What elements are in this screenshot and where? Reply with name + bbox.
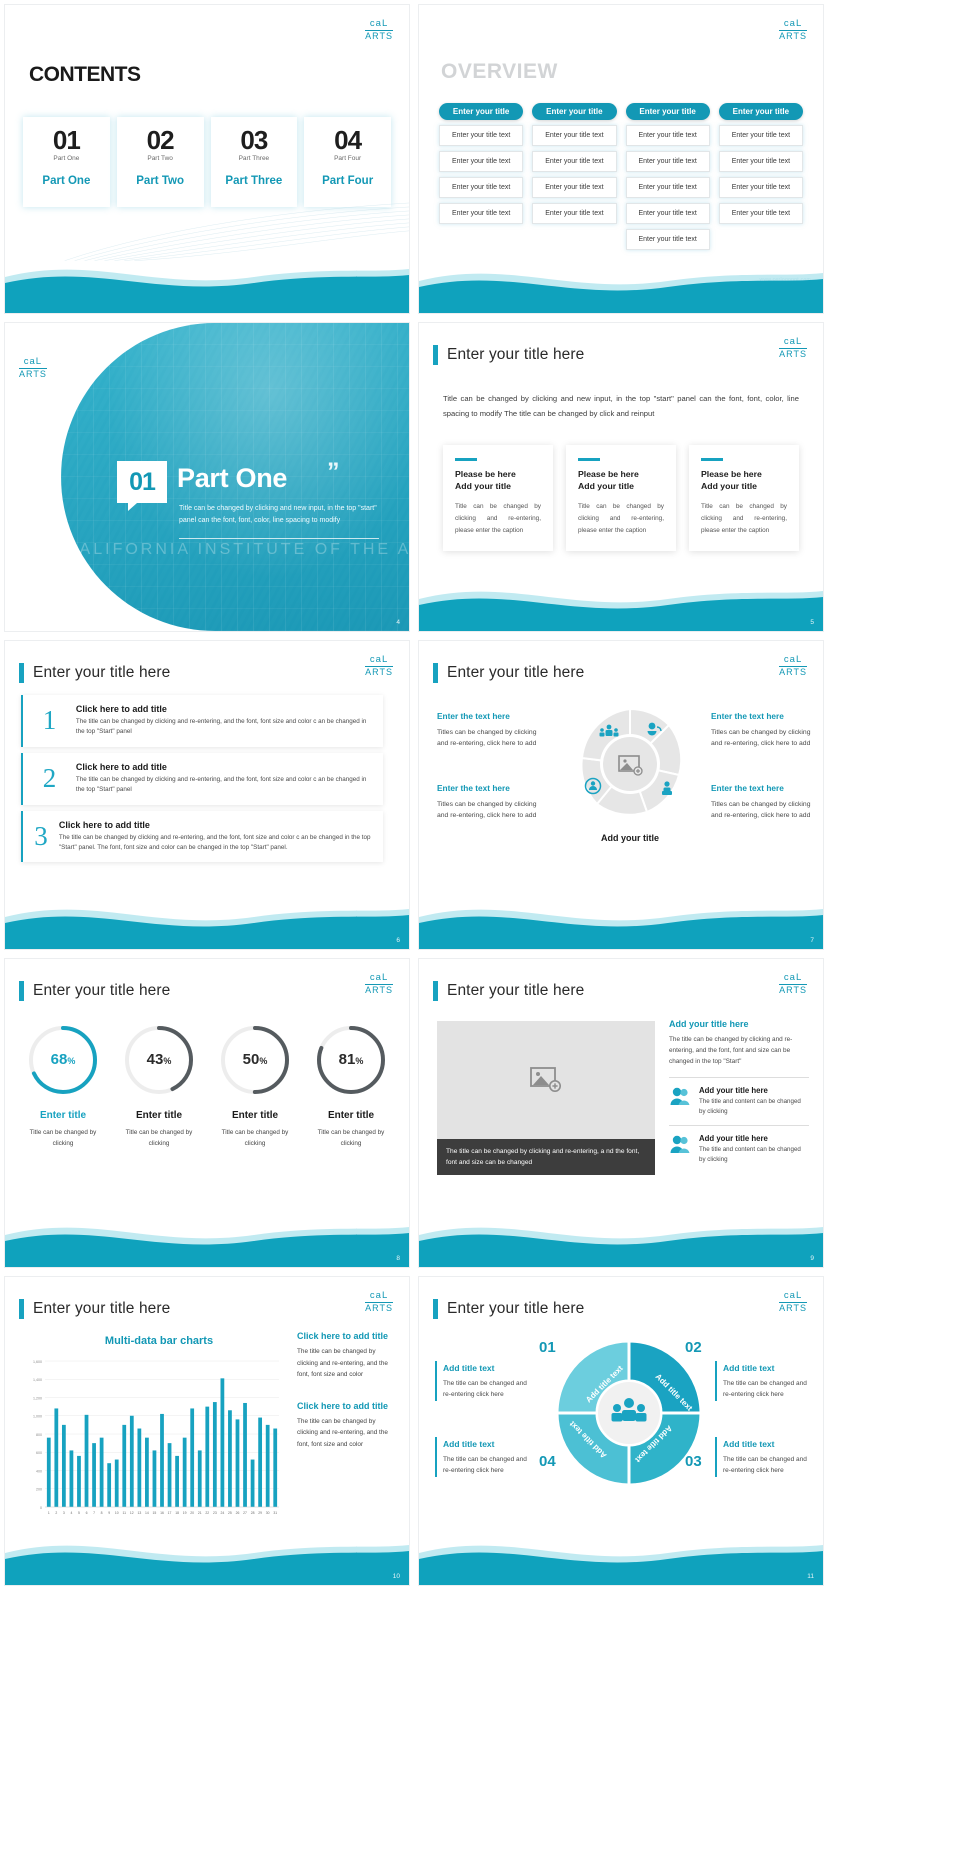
- svg-text:19: 19: [183, 1511, 187, 1515]
- wheel-label-bottom-left: Enter the text here Titles can be change…: [437, 781, 539, 822]
- logo-line-2: ARTS: [365, 31, 393, 41]
- item-heading: Click here to add title: [76, 704, 373, 714]
- card-label: Part One: [42, 175, 90, 187]
- label-body: Titles can be changed by clicking and re…: [711, 729, 811, 748]
- card-number: 01: [53, 127, 80, 153]
- slide-header: Enter your title here: [19, 663, 170, 683]
- item-number: 3: [23, 823, 59, 850]
- ring-label: Enter title: [136, 1110, 182, 1121]
- label-heading: Enter the text here: [711, 709, 813, 724]
- calarts-logo: caL ARTS: [365, 973, 393, 995]
- svg-text:9: 9: [108, 1511, 110, 1515]
- card-title-line-1: Please be here: [455, 469, 541, 481]
- overview-box[interactable]: Enter your title text: [439, 151, 523, 172]
- svg-text:4: 4: [70, 1511, 72, 1515]
- item-body: The title and content can be changed by …: [699, 1145, 809, 1165]
- svg-text:7: 7: [93, 1511, 95, 1515]
- percent-ring[interactable]: 68% Enter title Title can be changed by …: [15, 1021, 111, 1149]
- footer-url: www.cerlogoppt.com: [759, 277, 811, 283]
- label-body: Titles can be changed by clicking and re…: [711, 801, 811, 820]
- card-subtitle: Part Two: [147, 155, 173, 162]
- slide-segment-wheel[interactable]: caL ARTS Enter your title here Enter the…: [418, 640, 824, 950]
- title-accent-bar: [433, 345, 438, 365]
- item-body: The title can be changed by clicking and…: [76, 717, 373, 738]
- logo-line-2: ARTS: [779, 985, 807, 995]
- ring-description: Title can be changed by clicking: [308, 1128, 394, 1149]
- slide-percent-rings[interactable]: caL ARTS Enter your title here 68% Enter…: [4, 958, 410, 1268]
- overview-columns: Enter your title Enter your title text E…: [439, 103, 803, 250]
- card-accent-dash: [578, 458, 600, 461]
- page-title: Enter your title here: [447, 664, 584, 682]
- card-number: 04: [334, 127, 361, 153]
- calarts-logo: caL ARTS: [365, 655, 393, 677]
- image-placeholder[interactable]: [437, 1021, 655, 1139]
- page-number: 4: [396, 619, 400, 626]
- overview-box[interactable]: Enter your title text: [626, 125, 710, 146]
- item-heading: Click here to add title: [59, 820, 373, 830]
- overview-box[interactable]: Enter your title text: [532, 125, 616, 146]
- svg-text:11: 11: [122, 1511, 126, 1515]
- overview-box[interactable]: Enter your title text: [719, 177, 803, 198]
- right-column: Add your title here The title can be cha…: [669, 1019, 809, 1174]
- ring-unit: %: [163, 1056, 171, 1066]
- card-title-line-1: Please be here: [701, 469, 787, 481]
- wave-decoration: [419, 1523, 823, 1585]
- contents-card-list: 01 Part One Part One 02 Part Two Part Tw…: [23, 117, 391, 207]
- calarts-logo: caL ARTS: [779, 1291, 807, 1313]
- contents-card[interactable]: 02 Part Two Part Two: [117, 117, 204, 207]
- page-title: Enter your title here: [447, 346, 584, 364]
- slide-cycle-diagram[interactable]: caL ARTS Enter your title here: [418, 1276, 824, 1586]
- column-pill-button[interactable]: Enter your title: [626, 103, 710, 120]
- image-placeholder-icon: [529, 1065, 563, 1095]
- ring-description: Title can be changed by clicking: [212, 1128, 298, 1149]
- svg-text:0: 0: [40, 1506, 42, 1510]
- ring-label: Enter title: [40, 1110, 86, 1121]
- card-body: Title can be changed by clicking and re-…: [455, 501, 541, 537]
- logo-line-2: ARTS: [365, 985, 393, 995]
- block-body: The title can be changed by clicking and…: [297, 1346, 397, 1381]
- logo-line-2: ARTS: [19, 369, 47, 379]
- cycle-label-bottom-right: Add title text The title can be changed …: [715, 1437, 811, 1477]
- calarts-logo: caL ARTS: [365, 19, 393, 41]
- section-title: Part One: [177, 463, 287, 494]
- section-description: Title can be changed by clicking and new…: [179, 503, 389, 526]
- page-title: Enter your title here: [33, 664, 170, 682]
- slide-overview[interactable]: caL ARTS OVERVIEW Enter your title Enter…: [418, 4, 824, 314]
- wave-decoration: [419, 887, 823, 949]
- slide-contents[interactable]: caL ARTS CONTENTS 01 Part One Part One 0…: [4, 4, 410, 314]
- ring-number: 68: [51, 1051, 68, 1068]
- divider: [669, 1125, 809, 1126]
- title-accent-bar: [433, 1299, 438, 1319]
- contents-card[interactable]: 01 Part One Part One: [23, 117, 110, 207]
- svg-text:20: 20: [190, 1511, 194, 1515]
- contents-card[interactable]: 03 Part Three Part Three: [211, 117, 298, 207]
- calarts-logo: caL ARTS: [779, 19, 807, 41]
- footer-url: www.cd.logecult.com: [345, 277, 397, 283]
- wheel-label-bottom-right: Enter the text here Titles can be change…: [711, 781, 813, 822]
- logo-line-2: ARTS: [365, 667, 393, 677]
- card-label: Part Three: [225, 175, 282, 187]
- overview-box[interactable]: Enter your title text: [626, 151, 710, 172]
- slide-three-cards[interactable]: caL ARTS Enter your title here Title can…: [418, 322, 824, 632]
- svg-text:12: 12: [130, 1511, 134, 1515]
- label-heading: Add title text: [723, 1361, 811, 1375]
- page-title: Enter your title here: [447, 982, 584, 1000]
- title-accent-bar: [433, 663, 438, 683]
- overview-box[interactable]: Enter your title text: [719, 203, 803, 224]
- two-people-icon: [669, 1134, 691, 1154]
- cycle-number-03: 03: [685, 1453, 702, 1470]
- overview-column: Enter your title Enter your title text E…: [439, 103, 523, 250]
- svg-text:23: 23: [213, 1511, 217, 1515]
- block-heading: Click here to add title: [297, 1401, 397, 1411]
- cycle-label-bottom-left: Add title text The title can be changed …: [435, 1437, 531, 1477]
- item-number: 2: [23, 765, 76, 792]
- column-pill-button[interactable]: Enter your title: [439, 103, 523, 120]
- overview-box[interactable]: Enter your title text: [532, 177, 616, 198]
- item-body: The title and content can be changed by …: [699, 1097, 809, 1117]
- label-body: Titles can be changed by clicking and re…: [437, 801, 537, 820]
- slide-header: Enter your title here: [433, 663, 584, 683]
- label-heading: Add title text: [443, 1361, 531, 1375]
- svg-text:5: 5: [78, 1511, 80, 1515]
- ring-unit: %: [259, 1056, 267, 1066]
- svg-text:400: 400: [36, 1469, 42, 1473]
- overview-box[interactable]: Enter your title text: [719, 125, 803, 146]
- ring-number: 81: [339, 1051, 356, 1068]
- ring-unit: %: [67, 1056, 75, 1066]
- label-body: The title can be changed and re-entering…: [443, 1456, 527, 1474]
- info-card[interactable]: Please be here Add your title Title can …: [566, 445, 676, 551]
- list-item[interactable]: 3 Click here to add title The title can …: [21, 811, 383, 863]
- svg-text:14: 14: [145, 1511, 149, 1515]
- divider-rule: [179, 538, 379, 539]
- slide-image-and-list[interactable]: caL ARTS Enter your title here The title…: [418, 958, 824, 1268]
- label-heading: Enter the text here: [711, 781, 813, 796]
- overview-box[interactable]: Enter your title text: [439, 203, 523, 224]
- cycle-number-04: 04: [539, 1453, 556, 1470]
- svg-text:200: 200: [36, 1488, 42, 1492]
- svg-text:16: 16: [160, 1511, 164, 1515]
- card-accent-dash: [701, 458, 723, 461]
- image-caption: The title can be changed by clicking and…: [437, 1139, 655, 1175]
- page-number: 9: [810, 1255, 814, 1262]
- label-body: The title can be changed and re-entering…: [443, 1380, 527, 1398]
- logo-line-1: caL: [365, 1291, 393, 1303]
- overview-box[interactable]: Enter your title text: [626, 203, 710, 224]
- ring-value: 50%: [243, 1051, 268, 1068]
- card-body: Title can be changed by clicking and re-…: [701, 501, 787, 537]
- logo-line-1: caL: [779, 655, 807, 667]
- ring-description: Title can be changed by clicking: [116, 1128, 202, 1149]
- svg-text:26: 26: [236, 1511, 240, 1515]
- svg-text:30: 30: [266, 1511, 270, 1515]
- title-accent-bar: [19, 663, 24, 683]
- logo-line-1: caL: [19, 357, 47, 369]
- percent-ring[interactable]: 43% Enter title Title can be changed by …: [111, 1021, 207, 1149]
- card-label: Part Two: [136, 175, 184, 187]
- card-accent-dash: [455, 458, 477, 461]
- lead-paragraph: Title can be changed by clicking and new…: [443, 391, 799, 421]
- calarts-logo: caL ARTS: [779, 655, 807, 677]
- ring-label: Enter title: [232, 1110, 278, 1121]
- card-title-line-2: Add your title: [455, 481, 541, 493]
- contents-card[interactable]: 04 Part Four Part Four: [304, 117, 391, 207]
- logo-line-2: ARTS: [365, 1303, 393, 1313]
- svg-text:800: 800: [36, 1433, 42, 1437]
- wave-decoration: [419, 1205, 823, 1267]
- svg-text:13: 13: [137, 1511, 141, 1515]
- card-number: 02: [147, 127, 174, 153]
- logo-line-1: caL: [779, 337, 807, 349]
- page-title: OVERVIEW: [441, 60, 558, 84]
- slide-header: Enter your title here: [19, 1299, 170, 1319]
- calarts-logo: caL ARTS: [779, 973, 807, 995]
- card-list: Please be here Add your title Title can …: [443, 445, 799, 551]
- overview-box[interactable]: Enter your title text: [439, 177, 523, 198]
- column-heading: Add your title here: [669, 1019, 809, 1029]
- slide-bar-chart[interactable]: caL ARTS Enter your title here Multi-dat…: [4, 1276, 410, 1586]
- svg-text:10: 10: [115, 1511, 119, 1515]
- wave-decoration: [5, 1205, 409, 1267]
- page-number: 7: [810, 937, 814, 944]
- svg-text:24: 24: [220, 1511, 224, 1515]
- svg-text:2: 2: [55, 1511, 57, 1515]
- section-number: 01: [129, 468, 155, 497]
- overview-column: Enter your title Enter your title text E…: [626, 103, 710, 250]
- column-pill-button[interactable]: Enter your title: [532, 103, 616, 120]
- overview-box[interactable]: Enter your title text: [626, 229, 710, 250]
- page-title: Enter your title here: [33, 1300, 170, 1318]
- ring-value: 43%: [147, 1051, 172, 1068]
- divider: [669, 1077, 809, 1078]
- card-title-line-2: Add your title: [701, 481, 787, 493]
- slide-header: Enter your title here: [19, 981, 170, 1001]
- section-number-badge: 01: [117, 461, 167, 503]
- calarts-logo: caL ARTS: [365, 1291, 393, 1313]
- logo-line-1: caL: [365, 973, 393, 985]
- svg-text:1,200: 1,200: [33, 1396, 42, 1400]
- ring-label: Enter title: [328, 1110, 374, 1121]
- percent-ring[interactable]: 50% Enter title Title can be changed by …: [207, 1021, 303, 1149]
- logo-line-2: ARTS: [779, 349, 807, 359]
- overview-box[interactable]: Enter your title text: [626, 177, 710, 198]
- svg-text:3: 3: [63, 1511, 65, 1515]
- logo-line-1: caL: [779, 973, 807, 985]
- label-heading: Enter the text here: [437, 709, 539, 724]
- info-card[interactable]: Please be here Add your title Title can …: [689, 445, 799, 551]
- cycle-number-01: 01: [539, 1339, 556, 1356]
- two-people-icon: [669, 1086, 691, 1106]
- logo-line-2: ARTS: [779, 1303, 807, 1313]
- svg-text:25: 25: [228, 1511, 232, 1515]
- svg-text:29: 29: [258, 1511, 262, 1515]
- svg-text:1: 1: [48, 1511, 50, 1515]
- item-heading: Click here to add title: [76, 762, 373, 772]
- page-number: 11: [807, 1573, 814, 1580]
- slide-header: Enter your title here: [433, 981, 584, 1001]
- card-number: 03: [240, 127, 267, 153]
- wheel-caption: Add your title: [569, 833, 691, 843]
- cycle-number-02: 02: [685, 1339, 702, 1356]
- svg-text:1,000: 1,000: [33, 1415, 42, 1419]
- svg-text:21: 21: [198, 1511, 202, 1515]
- overview-box[interactable]: Enter your title text: [532, 151, 616, 172]
- ring-number: 43: [147, 1051, 164, 1068]
- calarts-logo: caL ARTS: [19, 357, 47, 379]
- wheel-label-top-right: Enter the text here Titles can be change…: [711, 709, 813, 750]
- logo-line-2: ARTS: [779, 667, 807, 677]
- page-number: 8: [396, 1255, 400, 1262]
- list-item[interactable]: 1 Click here to add title The title can …: [21, 695, 383, 747]
- overview-box[interactable]: Enter your title text: [532, 203, 616, 224]
- right-column: Click here to add title The title can be…: [297, 1331, 397, 1450]
- label-body: The title can be changed and re-entering…: [723, 1380, 807, 1398]
- column-pill-button[interactable]: Enter your title: [719, 103, 803, 120]
- item-heading: Add your title here: [699, 1086, 809, 1095]
- label-body: The title can be changed and re-entering…: [723, 1456, 807, 1474]
- logo-line-1: caL: [365, 19, 393, 31]
- card-subtitle: Part Three: [239, 155, 270, 162]
- svg-text:31: 31: [273, 1511, 277, 1515]
- info-card[interactable]: Please be here Add your title Title can …: [443, 445, 553, 551]
- numbered-row-list: 1 Click here to add title The title can …: [21, 695, 383, 862]
- cycle-label-top-right: Add title text The title can be changed …: [715, 1361, 811, 1401]
- card-title-line-2: Add your title: [578, 481, 664, 493]
- chart-title: Multi-data bar charts: [39, 1335, 279, 1347]
- svg-text:27: 27: [243, 1511, 247, 1515]
- column-body: The title can be changed by clicking and…: [669, 1034, 809, 1068]
- block-heading: Click here to add title: [297, 1331, 397, 1341]
- page-number: 10: [393, 1573, 400, 1580]
- ghost-watermark-text: CALIFORNIA INSTITUTE OF THE ARTS: [65, 541, 410, 559]
- percent-ring[interactable]: 81% Enter title Title can be changed by …: [303, 1021, 399, 1149]
- overview-box[interactable]: Enter your title text: [719, 151, 803, 172]
- svg-text:22: 22: [205, 1511, 209, 1515]
- page-number: 6: [396, 937, 400, 944]
- page-number: 5: [810, 619, 814, 626]
- wave-decoration: [5, 1523, 409, 1585]
- item-body: The title can be changed by clicking and…: [59, 833, 373, 854]
- page-title: Enter your title here: [33, 982, 170, 1000]
- label-heading: Enter the text here: [437, 781, 539, 796]
- card-body: Title can be changed by clicking and re-…: [578, 501, 664, 537]
- logo-line-2: ARTS: [779, 31, 807, 41]
- item-heading: Add your title here: [699, 1134, 809, 1143]
- card-label: Part Four: [322, 175, 373, 187]
- overview-column: Enter your title Enter your title text E…: [532, 103, 616, 250]
- slide-part-one-cover[interactable]: caL ARTS CALIFORNIA INSTITUTE OF THE ART…: [4, 322, 410, 632]
- card-subtitle: Part One: [53, 155, 79, 162]
- svg-text:1,600: 1,600: [33, 1360, 42, 1364]
- list-item[interactable]: Add your title here The title and conten…: [669, 1086, 809, 1117]
- slide-deck-grid: caL ARTS CONTENTS 01 Part One Part One 0…: [0, 0, 960, 1586]
- list-item[interactable]: Add your title here The title and conten…: [669, 1134, 809, 1165]
- overview-column: Enter your title Enter your title text E…: [719, 103, 803, 250]
- label-heading: Add title text: [443, 1437, 531, 1451]
- svg-text:6: 6: [86, 1511, 88, 1515]
- title-accent-bar: [19, 981, 24, 1001]
- ring-chart-group: 68% Enter title Title can be changed by …: [15, 1021, 399, 1149]
- wheel-label-top-left: Enter the text here Titles can be change…: [437, 709, 539, 750]
- svg-text:8: 8: [101, 1511, 103, 1515]
- decorative-line-mesh: [5, 201, 409, 261]
- list-item[interactable]: 2 Click here to add title The title can …: [21, 753, 383, 805]
- card-title-line-1: Please be here: [578, 469, 664, 481]
- block-body: The title can be changed by clicking and…: [297, 1416, 397, 1451]
- svg-text:28: 28: [251, 1511, 255, 1515]
- overview-box[interactable]: Enter your title text: [439, 125, 523, 146]
- quote-mark-icon: ”: [327, 458, 340, 487]
- slide-numbered-list[interactable]: caL ARTS Enter your title here 1 Click h…: [4, 640, 410, 950]
- label-body: Titles can be changed by clicking and re…: [437, 729, 537, 748]
- ring-number: 50: [243, 1051, 260, 1068]
- bar-chart[interactable]: 02004006008001,0001,2001,4001,6001234567…: [21, 1355, 283, 1525]
- page-title: CONTENTS: [29, 63, 141, 87]
- page-title: Enter your title here: [447, 1300, 584, 1318]
- label-heading: Add title text: [723, 1437, 811, 1451]
- item-body: The title can be changed by clicking and…: [76, 775, 373, 796]
- svg-text:600: 600: [36, 1451, 42, 1455]
- slide-header: Enter your title here: [433, 345, 584, 365]
- wave-decoration: [419, 569, 823, 631]
- title-accent-bar: [433, 981, 438, 1001]
- card-subtitle: Part Four: [334, 155, 361, 162]
- segment-wheel-diagram[interactable]: [569, 703, 691, 825]
- ring-value: 68%: [51, 1051, 76, 1068]
- ring-unit: %: [355, 1056, 363, 1066]
- title-accent-bar: [19, 1299, 24, 1319]
- wave-decoration: [5, 887, 409, 949]
- svg-text:17: 17: [168, 1511, 172, 1515]
- item-number: 1: [23, 707, 76, 734]
- slide-header: Enter your title here: [433, 1299, 584, 1319]
- svg-text:18: 18: [175, 1511, 179, 1515]
- ring-description: Title can be changed by clicking: [20, 1128, 106, 1149]
- ring-value: 81%: [339, 1051, 364, 1068]
- logo-line-1: caL: [365, 655, 393, 667]
- svg-text:1,400: 1,400: [33, 1378, 42, 1382]
- cycle-label-top-left: Add title text The title can be changed …: [435, 1361, 531, 1401]
- svg-text:15: 15: [153, 1511, 157, 1515]
- calarts-logo: caL ARTS: [779, 337, 807, 359]
- logo-line-1: caL: [779, 1291, 807, 1303]
- logo-line-1: caL: [779, 19, 807, 31]
